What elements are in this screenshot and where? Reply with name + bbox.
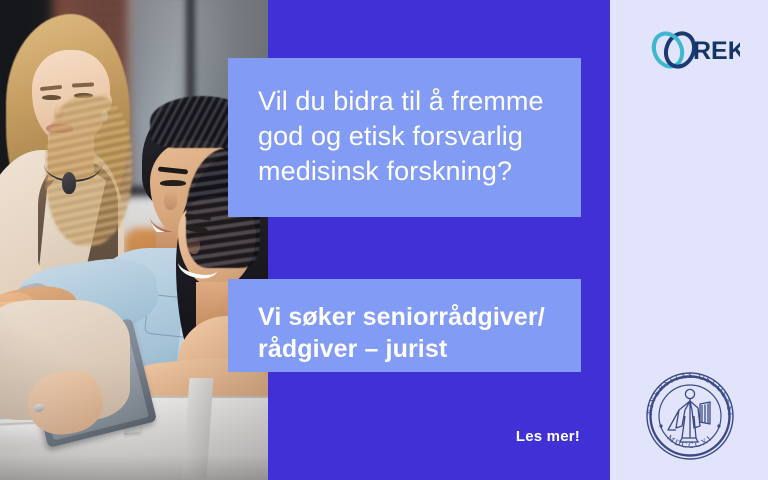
headline-role-line-1: Vi søker seniorrådgiver/	[258, 301, 551, 333]
headline-question-line-2: god og etisk forsvarlig	[258, 119, 551, 154]
headline-question-box: Vil du bidra til å fremme god og etisk f…	[228, 58, 581, 217]
headline-role-box: Vi søker seniorrådgiver/ rådgiver – juri…	[228, 279, 581, 372]
rek-wordmark: REK	[693, 37, 740, 65]
read-more-link[interactable]: Les mer!	[430, 428, 580, 445]
headline-question-line-1: Vil du bidra til å fremme	[258, 84, 551, 119]
rek-logo[interactable]: REK	[648, 26, 740, 74]
headline-question-line-3: medisinsk forskning?	[258, 154, 551, 189]
desk-shadow	[0, 455, 268, 480]
person-two-eye	[160, 180, 186, 186]
person-one-pendant	[62, 172, 76, 194]
university-of-oslo-seal: UNIVERSITAS OSLOENSIS MDCCCXI	[638, 364, 742, 468]
person-one-eye-left	[42, 95, 61, 100]
recruitment-banner: REK UNIVERSITAS OSLOENSIS MDCCCXI	[0, 0, 768, 480]
headline-role-line-2: rådgiver – jurist	[258, 333, 551, 365]
